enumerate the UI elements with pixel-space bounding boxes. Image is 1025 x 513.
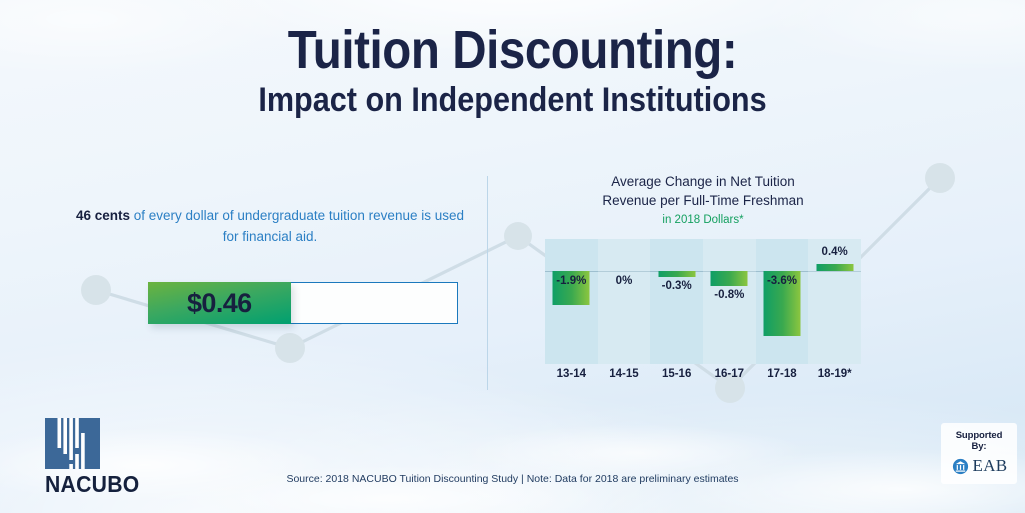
chart-column: -0.8%	[703, 239, 756, 364]
chart-title-line2: Revenue per Full-Time Freshman	[545, 191, 861, 210]
chart-x-tick: 18-19*	[808, 368, 861, 380]
chart-title-line1: Average Change in Net Tuition	[545, 172, 861, 191]
chart-bar-label: -1.9%	[556, 275, 586, 287]
page-title: Tuition Discounting: Impact on Independe…	[0, 22, 1025, 120]
nacubo-logo: NACUBO	[45, 418, 155, 498]
chart-bar	[658, 271, 695, 276]
chart-bar-label: -3.6%	[767, 275, 797, 287]
chart-x-tick: 13-14	[545, 368, 598, 380]
chart-bar-label: 0.4%	[822, 246, 848, 258]
chart-column: -0.3%	[650, 239, 703, 364]
chart-column: -3.6%	[756, 239, 809, 364]
headline-subtitle: Impact on Independent Institutions	[51, 82, 974, 119]
aid-progress-bar: $0.46	[148, 282, 458, 324]
infographic-canvas: Tuition Discounting: Impact on Independe…	[0, 0, 1025, 513]
chart-title: Average Change in Net Tuition Revenue pe…	[545, 172, 861, 210]
source-note: Source: 2018 NACUBO Tuition Discounting …	[0, 473, 1025, 485]
chart-x-axis: 13-1414-1515-1616-1717-1818-19*	[545, 368, 861, 390]
chart-column: 0.4%	[808, 239, 861, 364]
chart-x-tick: 15-16	[650, 368, 703, 380]
nacubo-mark-icon	[45, 418, 100, 469]
chart-bar-label: 0%	[616, 275, 633, 287]
aid-statement-emphasis: 46 cents	[76, 208, 130, 223]
chart-x-tick: 14-15	[598, 368, 651, 380]
chart-column: -1.9%	[545, 239, 598, 364]
supported-by-label: Supported By:	[947, 430, 1011, 452]
chart-subtitle: in 2018 Dollars*	[545, 214, 861, 226]
chart-bar	[816, 264, 853, 271]
financial-aid-panel: 46 cents of every dollar of undergraduat…	[60, 206, 480, 248]
aid-statement: 46 cents of every dollar of undergraduat…	[70, 206, 470, 248]
net-tuition-chart: Average Change in Net Tuition Revenue pe…	[545, 172, 861, 390]
chart-x-tick: 16-17	[703, 368, 756, 380]
chart-bar-label: -0.3%	[662, 280, 692, 292]
chart-column: 0%	[598, 239, 651, 364]
chart-x-tick: 17-18	[756, 368, 809, 380]
progress-value-label: $0.46	[148, 282, 291, 324]
chart-bar	[711, 271, 748, 285]
aid-statement-rest: of every dollar of undergraduate tuition…	[130, 208, 464, 244]
chart-plot-area: -1.9%0%-0.3%-0.8%-3.6%0.4%	[545, 239, 861, 364]
chart-bar-label: -0.8%	[714, 289, 744, 301]
panel-divider	[487, 176, 488, 390]
headline-main: Tuition Discounting:	[62, 22, 964, 78]
